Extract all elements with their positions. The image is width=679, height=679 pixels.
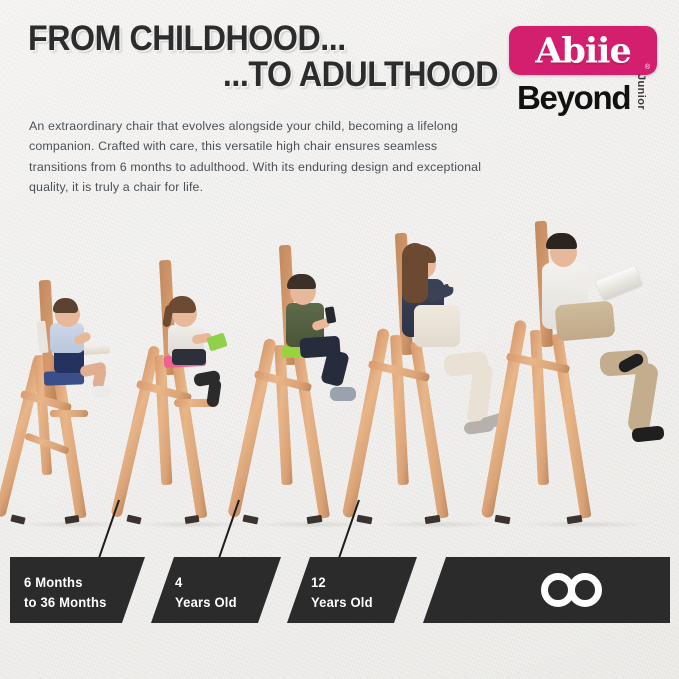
abiie-logo-badge: Abiie ® xyxy=(509,26,657,75)
registered-trademark-icon: ® xyxy=(645,64,650,71)
banner-segment-4[interactable] xyxy=(423,557,670,623)
page-title: FROM CHILDHOOD... ...TO ADULTHOOD xyxy=(28,22,498,92)
banner-segment-1-label: 6 Months to 36 Months xyxy=(24,573,107,613)
infinity-ring-right xyxy=(568,573,602,607)
held-object-book xyxy=(596,266,642,300)
beyond-wordmark: Beyond xyxy=(517,81,630,114)
banner-segment-2-label: 4 Years Old xyxy=(175,573,237,613)
brand-logo: Abiie ® Beyond Junior xyxy=(501,26,663,130)
held-object-mug xyxy=(448,273,464,287)
junior-wordmark: Junior xyxy=(635,74,647,110)
banner-segment-2[interactable]: 4 Years Old xyxy=(151,557,281,623)
infinity-icon xyxy=(541,573,615,607)
chair-growth-scene xyxy=(0,205,679,525)
banner-segment-1[interactable]: 6 Months to 36 Months xyxy=(10,557,145,623)
product-infographic-poster: FROM CHILDHOOD... ...TO ADULTHOOD An ext… xyxy=(0,0,679,679)
banner-segment-3[interactable]: 12 Years Old xyxy=(287,557,417,623)
banner-segment-3-label: 12 Years Old xyxy=(311,573,373,613)
headline-line-1: FROM CHILDHOOD... xyxy=(28,22,460,55)
beyond-junior-lockup: Beyond Junior xyxy=(501,81,663,125)
held-object-phone xyxy=(325,306,337,323)
description-paragraph: An extraordinary chair that evolves alon… xyxy=(29,116,491,196)
abiie-wordmark: Abiie xyxy=(509,30,657,71)
figure-man xyxy=(490,185,679,525)
headline-line-2: ...TO ADULTHOOD xyxy=(66,58,498,91)
age-stage-banner: 6 Months to 36 Months 4 Years Old 12 Yea… xyxy=(10,557,670,623)
